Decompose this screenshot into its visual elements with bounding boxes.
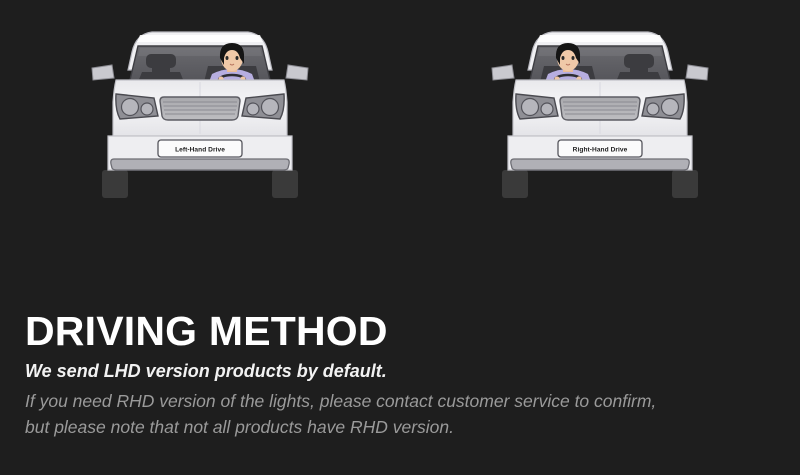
side-mirror-right-icon <box>686 65 708 80</box>
lower-air-intake <box>511 159 689 170</box>
licence-plate-lhd: Left-Hand Drive <box>158 140 242 157</box>
page-title: DRIVING METHOD <box>25 310 765 353</box>
front-grille <box>160 97 240 120</box>
plate-label-rhd: Right-Hand Drive <box>573 147 628 154</box>
side-mirror-right-icon <box>286 65 308 80</box>
side-mirror-left-icon <box>92 65 114 80</box>
front-grille <box>560 97 640 120</box>
page-root: Left-Hand Drive <box>0 0 800 475</box>
note-line-2: but please note that not all products ha… <box>25 414 765 440</box>
note-line-1: If you need RHD version of the lights, p… <box>25 388 765 414</box>
vehicle-right-hand-drive: Right-Hand Drive <box>480 18 720 208</box>
subtitle-default-version: We send LHD version products by default. <box>25 359 765 383</box>
headlight-right <box>242 94 284 119</box>
headlight-left <box>516 94 558 119</box>
side-mirror-left-icon <box>492 65 514 80</box>
lower-air-intake <box>111 159 289 170</box>
vehicle-left-hand-drive: Left-Hand Drive <box>80 18 320 208</box>
licence-plate-rhd: Right-Hand Drive <box>558 140 642 157</box>
tire-group <box>102 170 298 198</box>
plate-label-lhd: Left-Hand Drive <box>175 147 225 154</box>
tire-group <box>502 170 698 198</box>
vehicle-comparison-illustration: Left-Hand Drive <box>0 0 800 300</box>
headlight-right <box>642 94 684 119</box>
driving-method-text-block: DRIVING METHOD We send LHD version produ… <box>25 310 765 440</box>
headlight-left <box>116 94 158 119</box>
